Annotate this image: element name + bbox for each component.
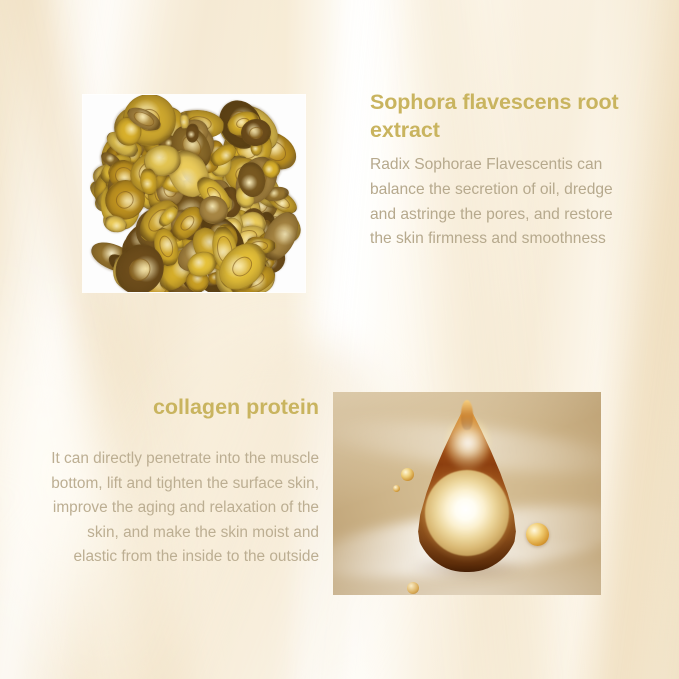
collagen-heading: collagen protein <box>45 393 319 421</box>
droplet-bubble <box>407 582 419 594</box>
collagen-body: It can directly penetrate into the muscl… <box>45 421 319 570</box>
sophora-root-image <box>83 95 305 292</box>
collagen-droplet-photo <box>333 392 601 595</box>
droplet-bubble <box>401 468 414 481</box>
droplet-bubble <box>393 485 400 492</box>
sophora-text-block: Sophora flavescens root extract Radix So… <box>370 88 622 252</box>
product-ingredient-poster: Sophora flavescens root extract Radix So… <box>0 0 679 679</box>
droplet-bubble <box>526 523 549 546</box>
collagen-text-block: collagen protein It can directly penetra… <box>45 393 319 570</box>
droplet-glow-core <box>425 470 509 556</box>
sophora-body: Radix Sophorae Flavescentis can balance … <box>370 144 622 252</box>
sophora-root-photo <box>83 95 305 292</box>
sophora-heading: Sophora flavescens root extract <box>370 88 622 144</box>
droplet-top-glow <box>446 417 490 469</box>
